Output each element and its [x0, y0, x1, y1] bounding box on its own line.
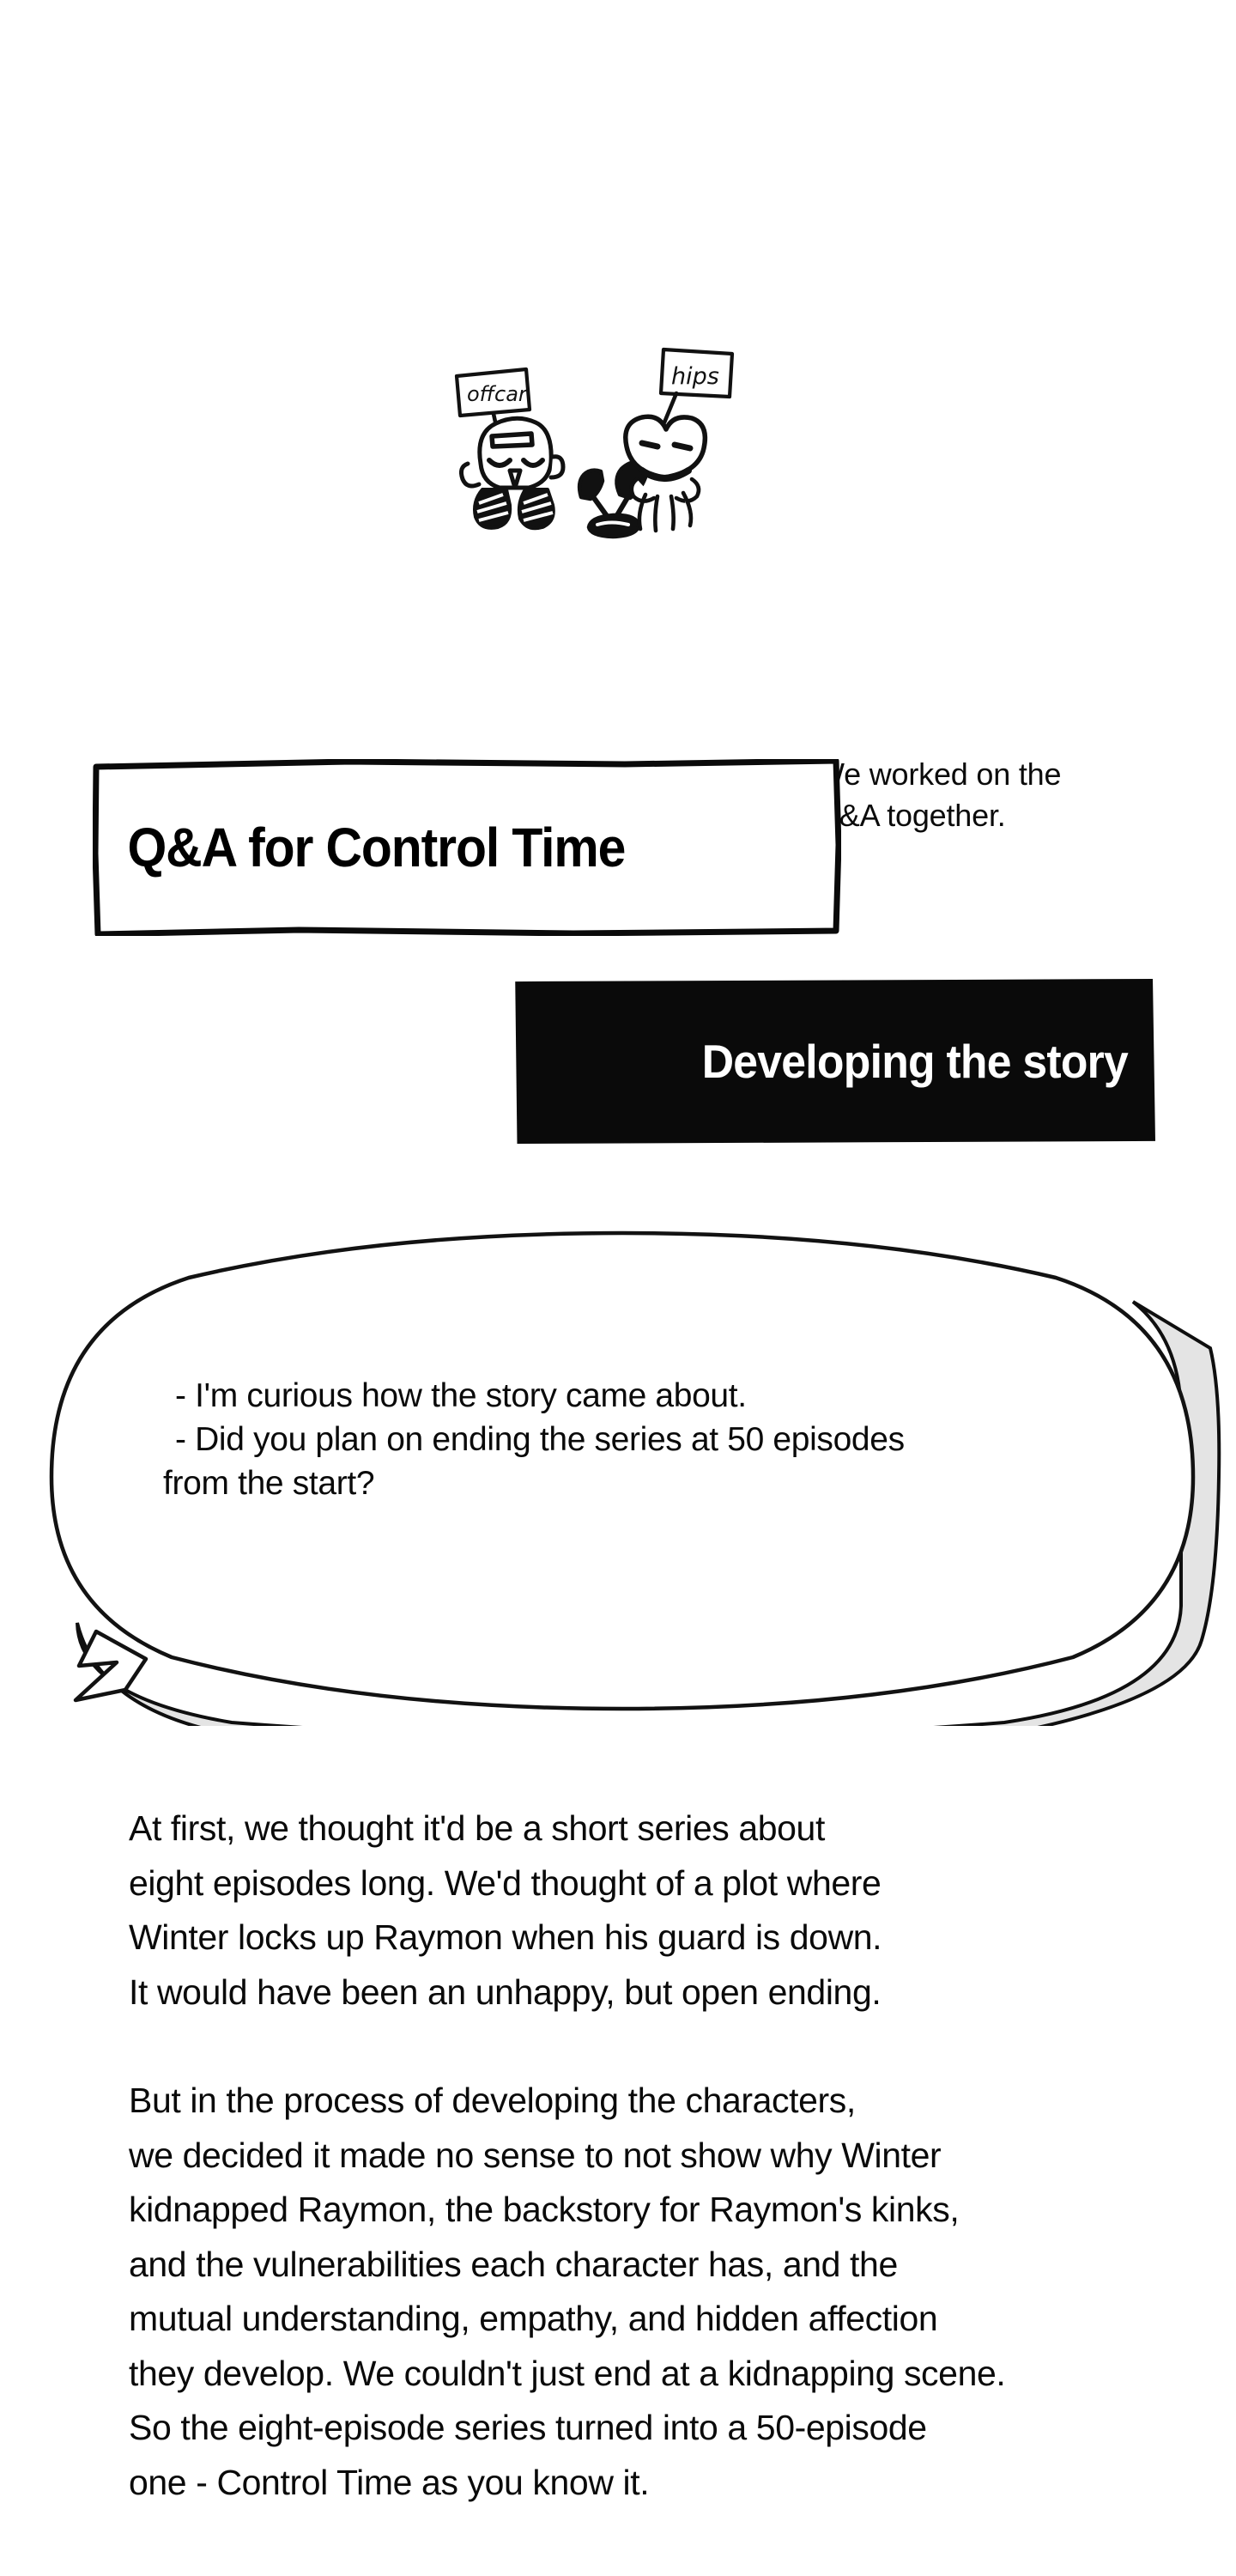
answer-line: kidnapped Raymon, the backstory for Raym…: [129, 2183, 1184, 2238]
answer-line: we decided it made no sense to not show …: [129, 2129, 1184, 2184]
answer-line: It would have been an unhappy, but open …: [129, 1965, 1184, 2020]
answer-line: So the eight-episode series turned into …: [129, 2401, 1184, 2456]
intro-strip: offcar: [0, 343, 1236, 558]
answer-line: mutual understanding, empathy, and hidde…: [129, 2292, 1184, 2347]
hips-character: [626, 416, 706, 478]
intro-caption-line: Q&A together.: [815, 795, 1193, 836]
answer-line: one - Control Time as you know it.: [129, 2456, 1184, 2511]
question-text: - I'm curious how the story came about. …: [163, 1374, 1176, 1505]
answer-body: At first, we thought it'd be a short ser…: [129, 1801, 1184, 2510]
hips-feet: [632, 479, 699, 531]
title-frame: Q&A for Control Time: [93, 759, 841, 936]
answer-line: they develop. We couldn't just end at a …: [129, 2347, 1184, 2402]
answer-line: Winter locks up Raymon when his guard is…: [129, 1911, 1184, 1965]
question-line: from the start?: [163, 1461, 1176, 1505]
question-line: - I'm curious how the story came about.: [163, 1374, 1176, 1418]
offcar-character: [461, 418, 563, 488]
intro-caption-line: We worked on the: [815, 754, 1193, 795]
question-line: - Did you plan on ending the series at 5…: [163, 1418, 1176, 1461]
answer-line: At first, we thought it'd be a short ser…: [129, 1801, 1184, 1856]
page-title: Q&A for Control Time: [93, 759, 781, 936]
hips-label-callout: hips: [661, 349, 732, 422]
section-heading: Developing the story: [552, 979, 1155, 1144]
offcar-feet: [475, 489, 554, 528]
section-banner: Developing the story: [513, 979, 1155, 1144]
hips-label-text: hips: [671, 363, 719, 390]
answer-line: eight episodes long. We'd thought of a p…: [129, 1856, 1184, 1911]
answer-line: and the vulnerabilities each character h…: [129, 2238, 1184, 2293]
offcar-label-text: offcar: [467, 382, 529, 406]
answer-paragraph: But in the process of developing the cha…: [129, 2074, 1184, 2510]
intro-caption: We worked on the Q&A together.: [815, 754, 1193, 835]
intro-doodle-group: offcar: [446, 343, 824, 550]
comic-page: offcar: [0, 0, 1236, 2576]
answer-paragraph: At first, we thought it'd be a short ser…: [129, 1801, 1184, 2020]
question-speech-bubble: - I'm curious how the story came about. …: [17, 1219, 1227, 1726]
answer-line: But in the process of developing the cha…: [129, 2074, 1184, 2129]
